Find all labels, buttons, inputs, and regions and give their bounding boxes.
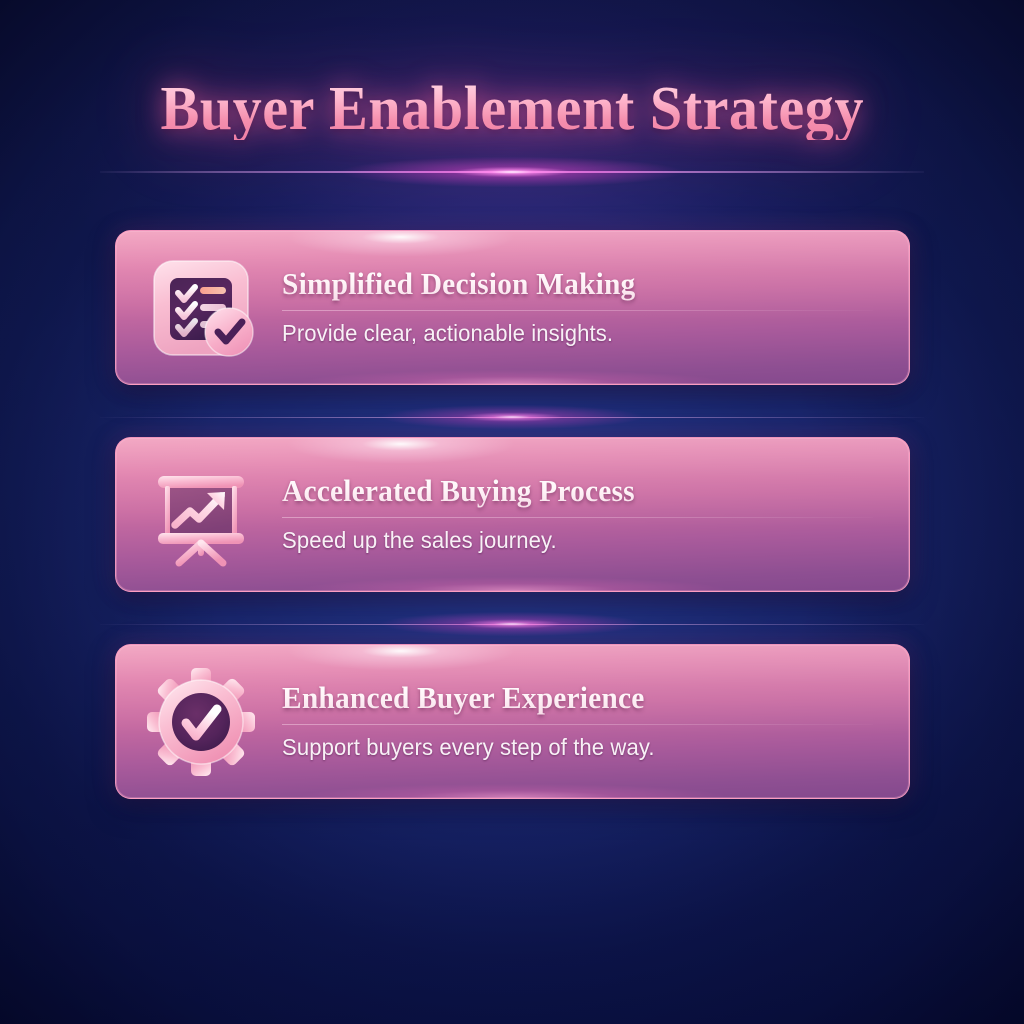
benefit-card-accelerated-buying-process[interactable]: Accelerated Buying Process Speed up the … [115, 437, 910, 592]
title-divider [100, 171, 924, 173]
card-subtitle: Speed up the sales journey. [282, 528, 849, 554]
checklist-clipboard-icon [142, 249, 260, 367]
card-text-block: Accelerated Buying Process Speed up the … [282, 475, 883, 553]
page-title: Buyer Enablement Strategy [160, 78, 864, 140]
infographic-canvas: Buyer Enablement Strategy [0, 0, 1024, 1024]
gear-checkmark-icon [142, 663, 260, 781]
card-subtitle: Support buyers every step of the way. [282, 735, 849, 761]
card-top-highlight [286, 230, 516, 257]
card-subtitle: Provide clear, actionable insights. [282, 321, 849, 347]
card-bottom-highlight [303, 577, 723, 592]
card-text-block: Simplified Decision Making Provide clear… [282, 268, 883, 346]
card-title: Enhanced Buyer Experience [282, 682, 843, 715]
benefit-card-simplified-decision-making[interactable]: Simplified Decision Making Provide clear… [115, 230, 910, 385]
card-rule [282, 517, 873, 518]
presentation-growth-chart-icon [142, 456, 260, 574]
card-top-highlight [286, 644, 516, 671]
card-text-block: Enhanced Buyer Experience Support buyers… [282, 682, 883, 760]
benefit-card-list: Simplified Decision Making Provide clear… [115, 230, 910, 799]
card-title: Accelerated Buying Process [282, 475, 843, 508]
card-bottom-highlight [303, 370, 723, 385]
page-title-wrap: Buyer Enablement Strategy [0, 78, 1024, 140]
card-title: Simplified Decision Making [282, 268, 843, 301]
card-rule [282, 310, 873, 311]
card-bottom-highlight [303, 784, 723, 799]
title-divider-spark [322, 155, 702, 189]
card-top-highlight [286, 437, 516, 464]
card-rule [282, 724, 873, 725]
benefit-card-enhanced-buyer-experience[interactable]: Enhanced Buyer Experience Support buyers… [115, 644, 910, 799]
